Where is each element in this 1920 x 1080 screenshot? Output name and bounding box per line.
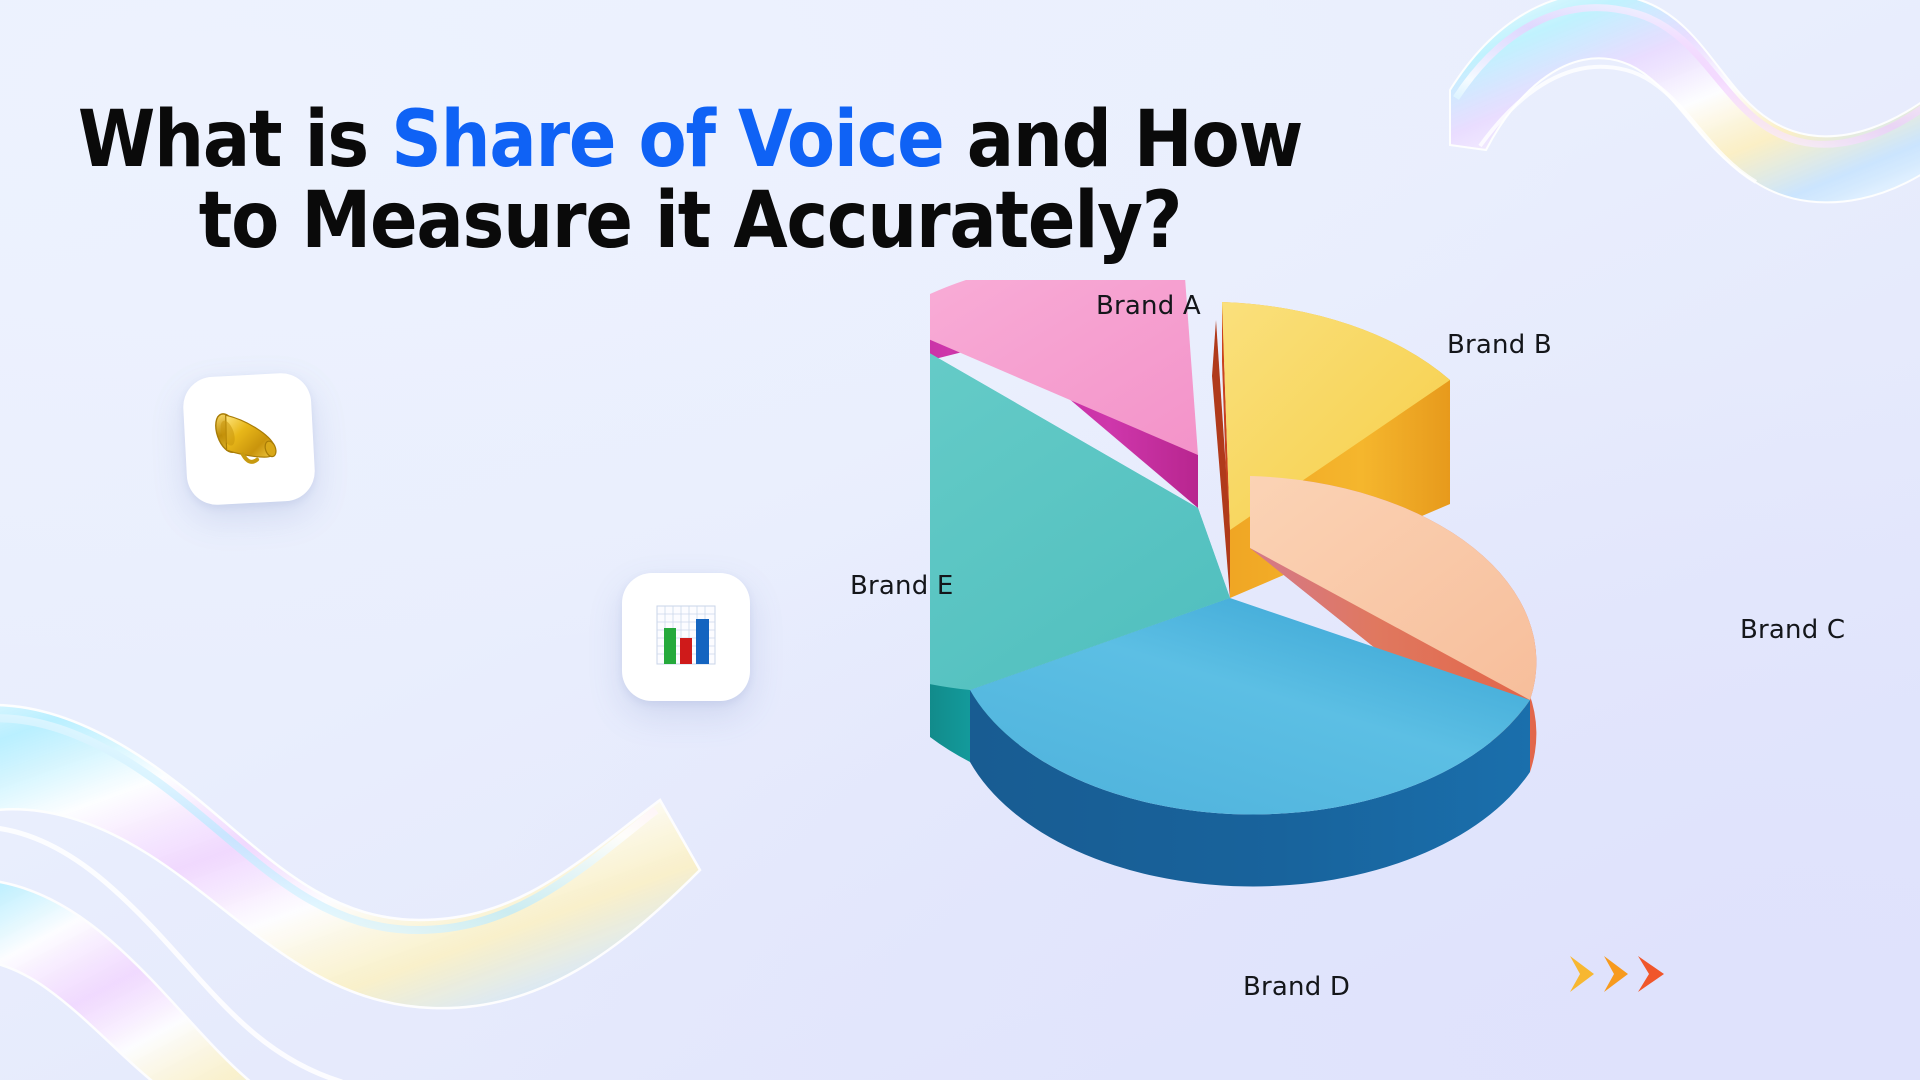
glass-ribbon-icon (1440, 0, 1920, 270)
poster-canvas: What is Share of Voice and How to Measur… (0, 0, 1920, 1080)
pie-label-brand-a: Brand A (1096, 291, 1201, 321)
megaphone-card (182, 372, 317, 507)
pie-label-brand-e: Brand E (850, 571, 954, 601)
chevron-arrows (1568, 950, 1688, 998)
title-line1-pre: What is (78, 95, 391, 185)
glass-ribbon-icon (0, 620, 720, 1080)
bar-chart-icon (649, 600, 723, 674)
pie-label-brand-b: Brand B (1447, 330, 1552, 360)
pie-label-brand-c: Brand C (1740, 615, 1845, 645)
megaphone-icon (206, 396, 292, 482)
title-line1-post: and How (944, 95, 1303, 185)
pie-label-brand-d: Brand D (1243, 972, 1350, 1002)
title-highlight: Share of Voice (391, 95, 943, 185)
title-line-1: What is Share of Voice and How (0, 100, 1380, 181)
pie-chart (930, 280, 1750, 920)
bar-chart-card (622, 573, 750, 701)
page-title: What is Share of Voice and How to Measur… (0, 100, 1380, 262)
title-line-2: to Measure it Accurately? (0, 181, 1380, 262)
